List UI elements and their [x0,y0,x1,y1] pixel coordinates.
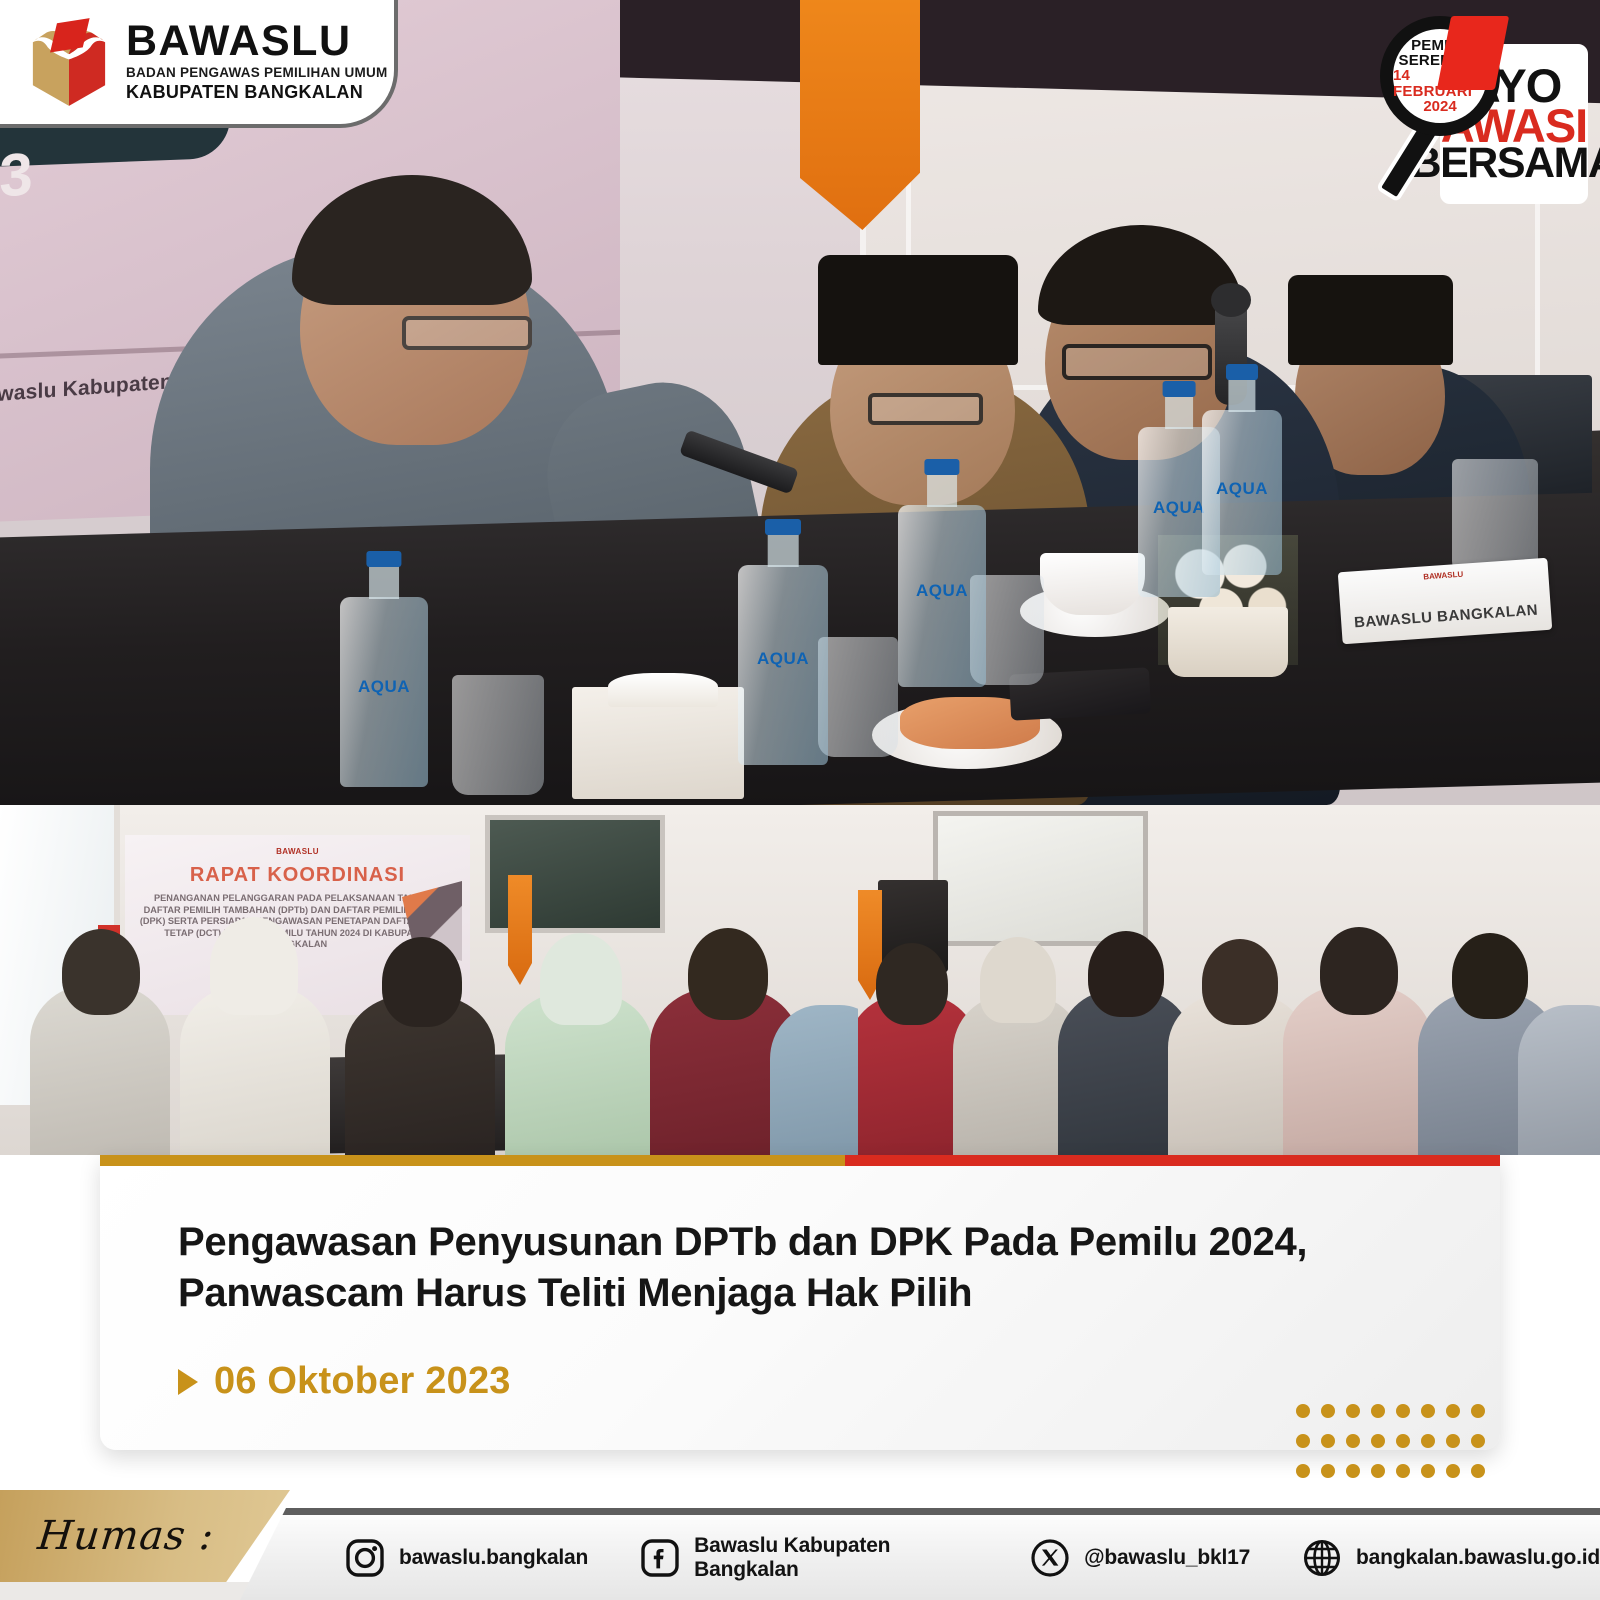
campaign-badge: AYO AWASI BERSAMA PEMILU SERENTAK 14 FEB… [1378,10,1588,208]
slogan-line-3: BERSAMA [1411,145,1600,181]
drinking-glass [818,637,898,757]
panelist-3-glasses [1062,344,1212,380]
panelist-2-glasses [868,393,983,425]
attendee-head [876,943,948,1025]
humas-label: Humas : [36,1513,217,1559]
website-url: bangkalan.bawaslu.go.id [1356,1546,1600,1570]
dot [1296,1434,1310,1448]
attendee-head [1088,931,1164,1017]
humas-tag: Humas : [0,1490,290,1582]
water-bottle: AQUA [1202,410,1282,575]
dot [1396,1404,1410,1418]
inset-photo-right [858,805,1600,1155]
publish-date: 06 Oktober 2023 [214,1360,511,1403]
facebook-handle: Bawaslu Kabupaten Bangkalan [694,1534,978,1582]
inset-photo-left: BAWASLU RAPAT KOORDINASI PENANGANAN PELA… [0,805,858,1155]
dot-grid-decoration [1290,1396,1490,1486]
attendee-head-hijab [980,937,1056,1023]
dot [1471,1464,1485,1478]
dot [1471,1434,1485,1448]
attendee-head-hijab [540,933,622,1025]
poster-root: 23 Bawaslu Kabupaten Bangkalan 𝕏 @bawasl… [0,0,1600,1600]
attendee [770,1005,858,1155]
backdrop-year: 23 [0,139,31,213]
dot [1471,1404,1485,1418]
coffee-cup [1040,553,1145,615]
publish-date-row: 06 Oktober 2023 [178,1360,511,1403]
social-facebook[interactable]: Bawaslu Kabupaten Bangkalan [640,1534,978,1582]
audience-right [858,905,1600,1155]
attendee [1518,1005,1600,1155]
dot [1371,1434,1385,1448]
dot [1421,1404,1435,1418]
dot [1346,1404,1360,1418]
attendee-head [382,937,462,1027]
dot [1446,1404,1460,1418]
play-triangle-icon [178,1369,198,1395]
facebook-icon [640,1538,680,1578]
inset-photo-row: BAWASLU RAPAT KOORDINASI PENANGANAN PELA… [0,805,1600,1155]
bawaslu-ballot-box-icon [26,16,112,108]
instagram-handle: bawaslu.bangkalan [399,1546,588,1570]
x-twitter-icon [1030,1538,1070,1578]
accent-red [845,1155,1500,1166]
drinking-glass [452,675,544,795]
table-nameplate: BAWASLU BAWASLU BANGKALAN [1338,558,1553,644]
social-x[interactable]: @bawaslu_bkl17 [1030,1538,1250,1578]
panelist-2-peci [818,255,1018,365]
attendee-head [688,928,768,1020]
headline-title: Pengawasan Penyusunan DPTb dan DPK Pada … [178,1217,1440,1319]
dot [1321,1434,1335,1448]
dot [1396,1434,1410,1448]
dot [1296,1464,1310,1478]
card-accent-bar [100,1155,1500,1166]
dot [1296,1404,1310,1418]
dot [1421,1434,1435,1448]
brand-name: BAWASLU [126,21,388,62]
dot [1371,1404,1385,1418]
banner-title: RAPAT KOORDINASI [190,864,405,887]
x-handle: @bawaslu_bkl17 [1084,1546,1250,1570]
water-bottle: AQUA [340,597,428,787]
dot [1396,1464,1410,1478]
dot [1321,1404,1335,1418]
bottle-label: AQUA [898,581,986,601]
bottle-label: AQUA [340,677,428,697]
attendee-head [1202,939,1278,1025]
brand-text: BAWASLU BADAN PENGAWAS PEMILIHAN UMUM KA… [126,21,388,104]
brand-region: KABUPATEN BANGKALAN [126,82,388,103]
audience-left [0,945,858,1155]
attendee-head-hijab [210,917,298,1015]
globe-icon [1302,1538,1342,1578]
bottle-label: AQUA [1202,479,1282,499]
dot [1446,1464,1460,1478]
nameplate-text: BAWASLU BANGKALAN [1341,601,1552,633]
dot [1421,1464,1435,1478]
dot [1346,1434,1360,1448]
tissue [608,673,718,707]
banner-logo: BAWASLU [276,847,319,856]
brand-subtitle: BADAN PENGAWAS PEMILIHAN UMUM [126,65,388,80]
water-bottle: AQUA [738,565,828,765]
attendee-head [1320,927,1398,1015]
brand-logo-panel: BAWASLU BADAN PENGAWAS PEMILIHAN UMUM KA… [0,0,398,128]
instagram-icon [345,1538,385,1578]
dot [1321,1464,1335,1478]
footer-bar: Humas : bawaslu.bangkalan Bawaslu Kabupa… [0,1490,1600,1600]
social-instagram[interactable]: bawaslu.bangkalan [345,1538,588,1578]
dot [1371,1464,1385,1478]
bottle-label: AQUA [738,649,828,669]
dot [1446,1434,1460,1448]
speaker-glasses [402,316,532,350]
social-links-bar: bawaslu.bangkalan Bawaslu Kabupaten Bang… [240,1508,1600,1600]
water-bottle: AQUA [898,505,986,687]
social-website[interactable]: bangkalan.bawaslu.go.id [1302,1538,1600,1578]
attendee-head [1452,933,1528,1019]
attendee-head [62,929,140,1015]
nameplate-logo: BAWASLU [1423,570,1464,582]
badge-line-4: 2024 [1423,99,1456,114]
panelist-4-cap [1288,275,1453,365]
accent-gold [100,1155,845,1166]
flower-basket [1168,607,1288,677]
dot [1346,1464,1360,1478]
